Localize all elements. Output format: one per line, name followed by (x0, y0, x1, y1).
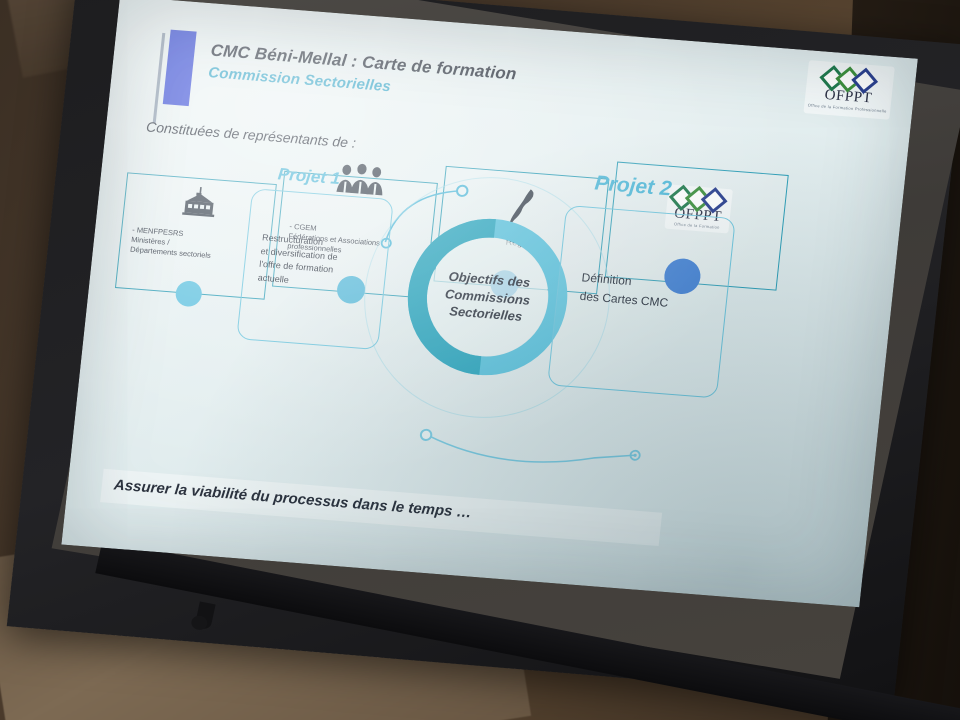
projet-2-box[interactable]: Définition des Cartes CMC (547, 205, 736, 399)
projet-1-box[interactable]: Restructuration et diversification de l'… (236, 188, 394, 350)
slide-canvas: OFPPT Office de la Formation Professionn… (61, 0, 917, 607)
screen-pull-handle[interactable] (194, 601, 215, 629)
room-photo: OFPPT Office de la Formation Professionn… (0, 0, 960, 720)
projet-1-text: Restructuration et diversification de l'… (257, 231, 378, 293)
projected-slide: OFPPT Office de la Formation Professionn… (61, 0, 917, 607)
projet-2-text: Définition des Cartes CMC (579, 268, 719, 316)
